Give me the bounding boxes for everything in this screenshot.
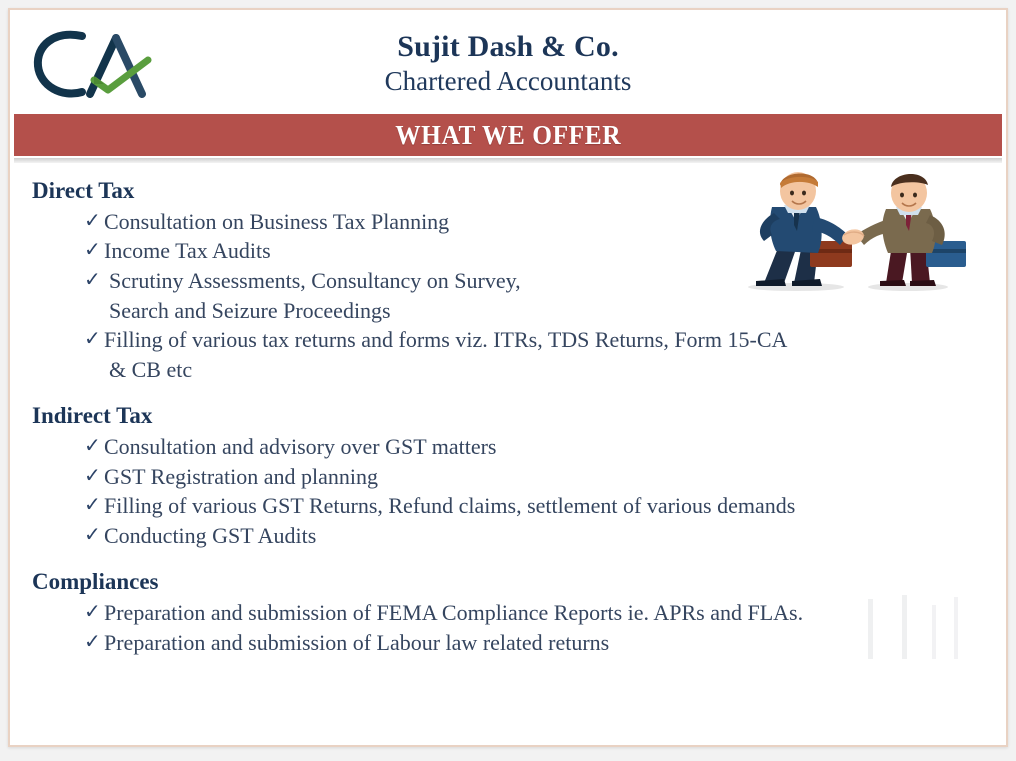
list-item-label: Preparation and submission of FEMA Compl…	[104, 599, 803, 628]
list-item: ✓ Conducting GST Audits	[84, 522, 988, 551]
slide-card: Sujit Dash & Co. Chartered Accountants W…	[8, 8, 1008, 747]
title-block: Sujit Dash & Co. Chartered Accountants	[10, 30, 1006, 97]
section-heading: Indirect Tax	[32, 402, 988, 431]
what-we-offer-banner: WHAT WE OFFER	[14, 114, 1002, 156]
watermark-icon	[858, 595, 988, 665]
firm-name: Sujit Dash & Co.	[10, 30, 1006, 64]
check-icon: ✓	[84, 463, 102, 491]
list-item: ✓ Filling of various tax returns and for…	[84, 326, 988, 355]
bullet-list: ✓ Consultation and advisory over GST mat…	[28, 433, 988, 550]
list-item-label: Filling of various tax returns and forms…	[104, 326, 787, 355]
content-area: Direct Tax ✓ Consultation on Business Ta…	[10, 163, 1006, 743]
list-item-label: Scrutiny Assessments, Consultancy on Sur…	[104, 267, 521, 296]
check-icon: ✓	[84, 326, 102, 354]
check-icon: ✓	[84, 433, 102, 461]
list-item-continuation: Search and Seizure Proceedings	[84, 297, 988, 326]
list-item-label: Income Tax Audits	[104, 237, 271, 266]
list-item-label: GST Registration and planning	[104, 463, 378, 492]
handshake-icon	[736, 165, 986, 295]
list-item: ✓ Preparation and submission of Labour l…	[84, 629, 988, 658]
bullet-list: ✓ Preparation and submission of FEMA Com…	[28, 599, 988, 657]
check-icon: ✓	[84, 599, 102, 627]
check-icon: ✓	[84, 522, 102, 550]
firm-subtitle: Chartered Accountants	[10, 66, 1006, 98]
section-spacer	[28, 388, 988, 402]
banner-title: WHAT WE OFFER	[395, 120, 621, 151]
list-item: ✓ Preparation and submission of FEMA Com…	[84, 599, 988, 628]
business-handshake-illustration	[736, 165, 986, 295]
background-watermark	[858, 595, 988, 665]
section-spacer	[28, 554, 988, 568]
slide-header: Sujit Dash & Co. Chartered Accountants	[10, 10, 1006, 114]
section-indirect-tax: Indirect Tax ✓ Consultation and advisory…	[28, 402, 988, 550]
list-item-label: Consultation and advisory over GST matte…	[104, 433, 497, 462]
list-item-label: Conducting GST Audits	[104, 522, 316, 551]
list-item: ✓ Consultation and advisory over GST mat…	[84, 433, 988, 462]
check-icon: ✓	[84, 237, 102, 265]
list-item-label: Preparation and submission of Labour law…	[104, 629, 609, 658]
list-item: ✓ GST Registration and planning	[84, 463, 988, 492]
list-item-label: Filling of various GST Returns, Refund c…	[104, 492, 795, 521]
list-item-continuation: & CB etc	[84, 356, 988, 385]
check-icon: ✓	[84, 208, 102, 236]
list-item: ✓ Filling of various GST Returns, Refund…	[84, 492, 988, 521]
list-item-label: Consultation on Business Tax Planning	[104, 208, 449, 237]
section-compliances: Compliances ✓ Preparation and submission…	[28, 568, 988, 657]
check-icon: ✓	[84, 492, 102, 520]
check-icon: ✓	[84, 267, 102, 295]
section-heading: Compliances	[32, 568, 988, 597]
check-icon: ✓	[84, 629, 102, 657]
